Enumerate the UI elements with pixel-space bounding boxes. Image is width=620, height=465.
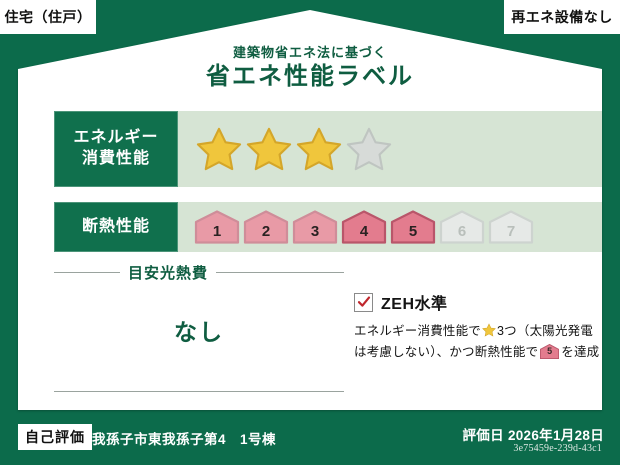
title-main: 省エネ性能ラベル <box>18 62 602 92</box>
page-title: 建築物省エネ法に基づく 省エネ性能ラベル <box>18 46 602 92</box>
zeh-description: エネルギー消費性能で 3つ（太陽光発電 は考慮しない）、かつ断熱性能で 5 を達… <box>354 321 604 362</box>
evaluation-date-label: 評価日 <box>462 428 503 443</box>
evaluation-id: 3e75459e-239d-43c1 <box>513 443 602 454</box>
zeh-desc-part3: を達成 <box>561 345 599 359</box>
insulation-chip-icon-grade: 5 <box>540 344 559 359</box>
insulation-chip-3: 3 <box>292 210 338 244</box>
zeh-desc-part2: は考慮しない）、かつ断熱性能で <box>354 345 538 359</box>
insulation-chip-5: 5 <box>390 210 436 244</box>
evaluation-date: 評価日 2026年1月28日 <box>462 424 604 444</box>
zeh-block: ZEH水準 エネルギー消費性能で 3つ（太陽光発電 は考慮しない）、かつ断熱性能… <box>354 290 604 362</box>
heading-rule-right <box>216 272 344 273</box>
evaluation-date-value: 2026年1月28日 <box>508 428 604 443</box>
insulation-grade-scale: 1234567 <box>194 210 534 244</box>
zeh-checkbox[interactable] <box>354 293 373 312</box>
heading-rule-left <box>54 272 120 273</box>
insulation-chip-label: 7 <box>507 223 515 244</box>
insulation-chip-7: 7 <box>488 210 534 244</box>
insulation-performance-value: 1234567 <box>178 202 602 252</box>
insulation-chip-label: 6 <box>458 223 466 244</box>
utility-cost-bottom-rule <box>54 391 344 392</box>
self-evaluation-badge: 自己評価 <box>18 424 92 450</box>
insulation-chip-1: 1 <box>194 210 240 244</box>
insulation-chip-6: 6 <box>439 210 485 244</box>
check-icon <box>357 295 371 309</box>
zeh-title: ZEH水準 <box>381 290 448 314</box>
star-icon-filled <box>246 126 292 172</box>
insulation-chip-label: 4 <box>360 223 368 244</box>
insulation-chip-label: 2 <box>262 223 270 244</box>
insulation-performance-row: 断熱性能 1234567 <box>54 202 602 252</box>
insulation-chip-label: 3 <box>311 223 319 244</box>
insulation-chip-label: 1 <box>213 223 221 244</box>
insulation-label-text: 断熱性能 <box>82 217 150 238</box>
zeh-desc-star-count: 3つ（太陽光発電 <box>497 324 593 338</box>
zeh-heading: ZEH水準 <box>354 290 604 314</box>
star-icon-inline <box>482 323 496 337</box>
energy-performance-row: エネルギー 消費性能 <box>54 111 602 187</box>
insulation-chip-4: 4 <box>341 210 387 244</box>
utility-cost-heading: 目安光熱費 <box>54 262 344 283</box>
star-rating <box>196 126 392 172</box>
zeh-desc-part1: エネルギー消費性能で <box>354 324 481 338</box>
star-icon-filled <box>296 126 342 172</box>
star-icon-empty <box>346 126 392 172</box>
property-address: 我孫子市東我孫子第4 1号棟 <box>92 428 276 448</box>
star-icon-filled <box>196 126 242 172</box>
footer: 自己評価 我孫子市東我孫子第4 1号棟 評価日 2026年1月28日 3e754… <box>0 410 620 465</box>
insulation-chip-2: 2 <box>243 210 289 244</box>
insulation-performance-label: 断熱性能 <box>54 202 178 252</box>
insulation-chip-icon-inline: 5 <box>540 344 559 359</box>
insulation-chip-label: 5 <box>409 223 417 244</box>
energy-label-line1: エネルギー <box>73 128 158 149</box>
house-panel: 建築物省エネ法に基づく 省エネ性能ラベル エネルギー 消費性能 断熱性能 123… <box>18 10 602 410</box>
energy-label-line2: 消費性能 <box>82 149 150 170</box>
energy-performance-value <box>178 111 602 187</box>
utility-cost-block: 目安光熱費 なし <box>54 262 344 392</box>
energy-performance-label: エネルギー 消費性能 <box>54 111 178 187</box>
title-subtitle: 建築物省エネ法に基づく <box>18 46 602 60</box>
utility-cost-heading-text: 目安光熱費 <box>128 262 208 283</box>
label-root: 住宅（住戸） 再エネ設備なし 建築物省エネ法に基づく 省エネ性能ラベル エネルギ… <box>0 0 620 465</box>
utility-cost-value: なし <box>54 313 344 347</box>
